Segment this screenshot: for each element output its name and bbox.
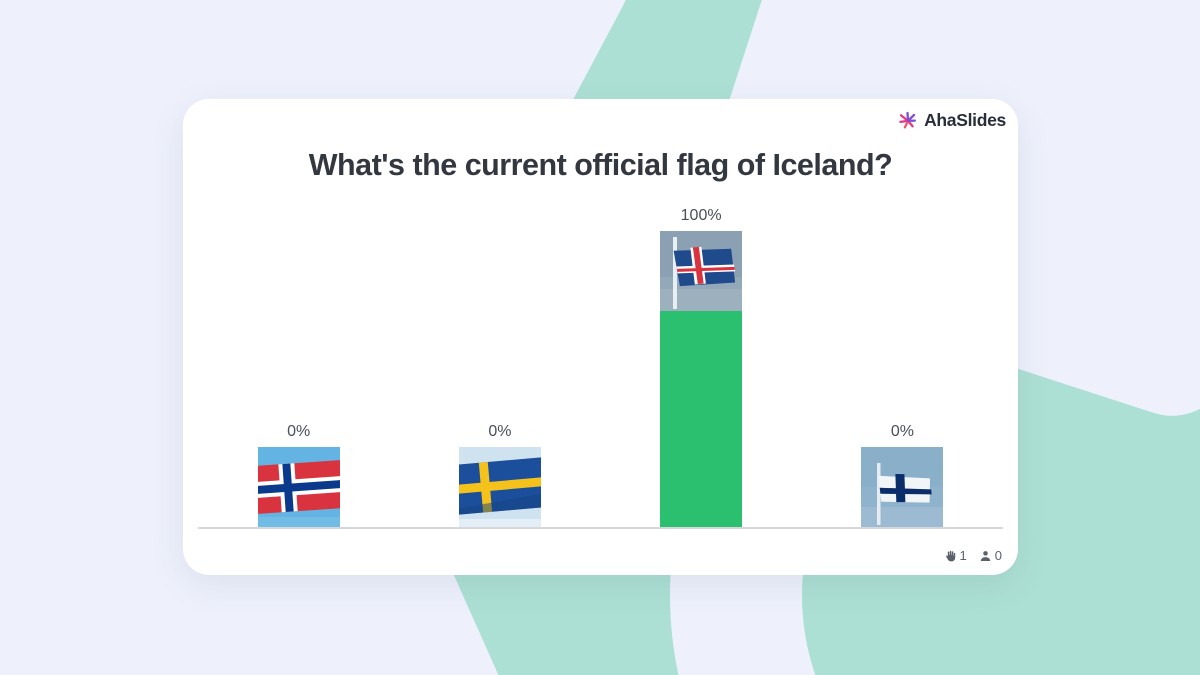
iceland-flag-photo: [660, 231, 742, 311]
bar-column-option-4[interactable]: 0%: [842, 199, 962, 527]
poll-results-bar-chart: 0%: [198, 199, 1003, 529]
participants-stat: 0: [979, 548, 1002, 563]
ahaslides-starburst-icon: [897, 110, 918, 131]
slide-footer-stats: 1 0: [944, 548, 1002, 563]
votes-stat: 1: [944, 548, 967, 563]
bar-value-label: 0%: [891, 423, 914, 441]
brand-name: AhaSlides: [924, 110, 1006, 131]
person-icon: [979, 549, 992, 563]
finland-flag-photo: [861, 447, 943, 527]
poll-question-title: What's the current official flag of Icel…: [183, 148, 1018, 183]
bar-column-option-3[interactable]: 100%: [641, 199, 761, 527]
chart-baseline-axis: [198, 527, 1003, 529]
ahaslides-brand: AhaSlides: [897, 110, 1006, 131]
bar-column-option-2[interactable]: 0%: [440, 199, 560, 527]
bar-column-option-1[interactable]: 0%: [239, 199, 359, 527]
bar-stack: [861, 447, 943, 527]
bar-value-label: 0%: [287, 423, 310, 441]
bar-fill: [660, 311, 742, 527]
bar-value-label: 0%: [488, 423, 511, 441]
sweden-flag-photo: [459, 447, 541, 527]
poll-slide-card: AhaSlides What's the current official fl…: [183, 99, 1018, 575]
bar-group: 0%: [198, 199, 1003, 527]
bar-stack: [660, 231, 742, 527]
votes-count: 1: [960, 548, 967, 563]
bar-value-label: 100%: [681, 207, 722, 225]
bar-stack: [459, 447, 541, 527]
bar-stack: [258, 447, 340, 527]
norway-flag-photo: [258, 447, 340, 527]
participants-count: 0: [995, 548, 1002, 563]
raised-hand-icon: [944, 549, 957, 563]
